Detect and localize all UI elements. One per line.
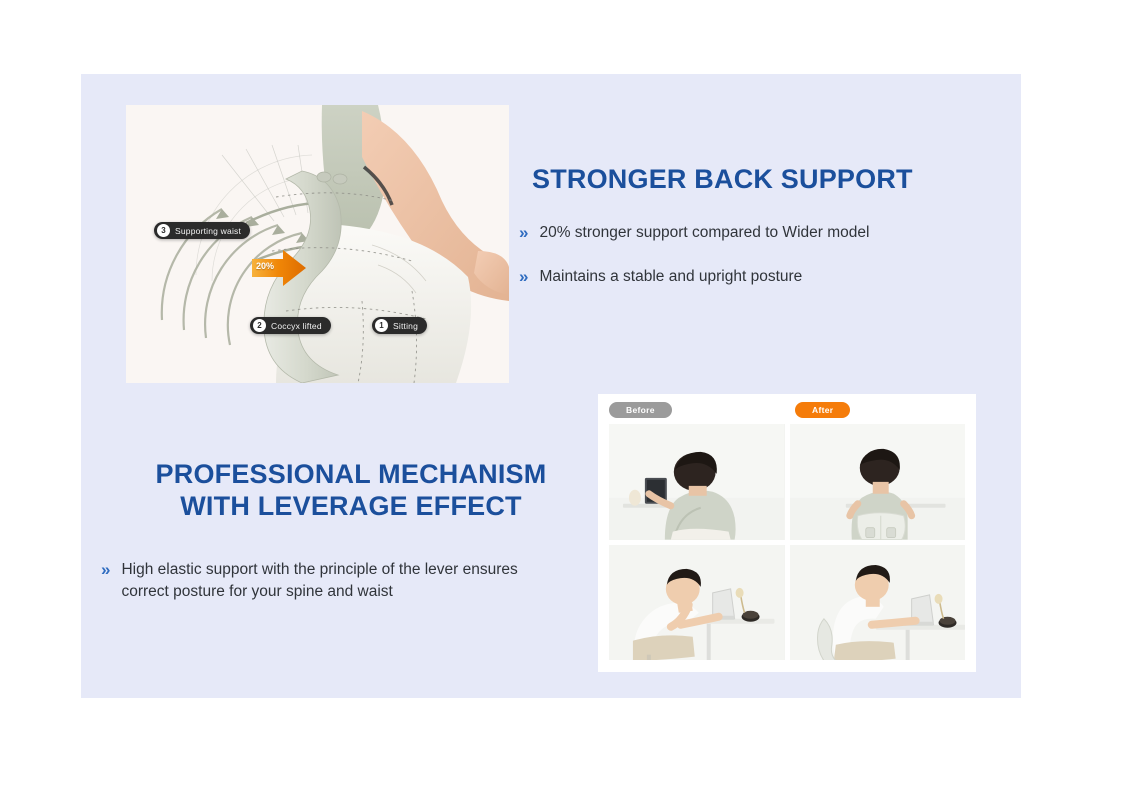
back-support-heading: STRONGER BACK SUPPORT — [532, 164, 989, 196]
photo-after-back-view — [790, 424, 965, 540]
comparison-cell-after-back — [790, 424, 966, 540]
hero-product-photo: 20% 3 Supporting waist 2 Coccyx lifted — [126, 105, 509, 383]
hero-photo-illustration — [126, 105, 509, 383]
mechanism-heading-line2: WITH LEVERAGE EFFECT — [180, 491, 522, 521]
bullet-text: 20% stronger support compared to Wider m… — [539, 222, 869, 244]
callout-number: 1 — [375, 319, 388, 332]
callout-number: 2 — [253, 319, 266, 332]
before-after-grid — [609, 424, 965, 660]
comparison-cell-before-back — [609, 424, 785, 540]
chevron-double-right-icon: » — [101, 559, 110, 580]
bullet-item: » 20% stronger support compared to Wider… — [519, 222, 989, 244]
comparison-cell-before-side — [609, 545, 785, 661]
after-badge: After — [795, 402, 850, 418]
arrow-badge-label: 20% — [256, 261, 274, 271]
twenty-percent-arrow-badge: 20% — [250, 248, 308, 288]
callout-label: Supporting waist — [175, 226, 241, 236]
photo-before-side-view — [609, 545, 784, 661]
callout-number: 3 — [157, 224, 170, 237]
comparison-cell-after-side — [790, 545, 966, 661]
before-badge: Before — [609, 402, 672, 418]
callout-coccyx-lifted: 2 Coccyx lifted — [250, 317, 331, 334]
infographic-panel: 20% 3 Supporting waist 2 Coccyx lifted — [81, 74, 1021, 698]
bullet-text: High elastic support with the principle … — [121, 559, 521, 603]
photo-before-back-view — [609, 424, 784, 540]
chevron-double-right-icon: » — [519, 222, 528, 243]
before-after-card: Before After — [598, 394, 976, 672]
bullet-item: » Maintains a stable and upright posture — [519, 266, 989, 288]
callout-label: Coccyx lifted — [271, 321, 322, 331]
callout-label: Sitting — [393, 321, 418, 331]
chevron-double-right-icon: » — [519, 266, 528, 287]
callout-sitting: 1 Sitting — [372, 317, 427, 334]
mechanism-heading-line1: PROFESSIONAL MECHANISM — [156, 459, 547, 489]
bullet-text: Maintains a stable and upright posture — [539, 266, 802, 288]
bullet-item: » High elastic support with the principl… — [101, 559, 601, 603]
back-support-section: STRONGER BACK SUPPORT » 20% stronger sup… — [519, 164, 989, 310]
mechanism-section: PROFESSIONAL MECHANISM WITH LEVERAGE EFF… — [101, 459, 601, 603]
photo-after-side-view — [790, 545, 965, 661]
before-after-labels: Before After — [598, 394, 976, 424]
mechanism-heading: PROFESSIONAL MECHANISM WITH LEVERAGE EFF… — [101, 459, 601, 523]
callout-supporting-waist: 3 Supporting waist — [154, 222, 250, 239]
